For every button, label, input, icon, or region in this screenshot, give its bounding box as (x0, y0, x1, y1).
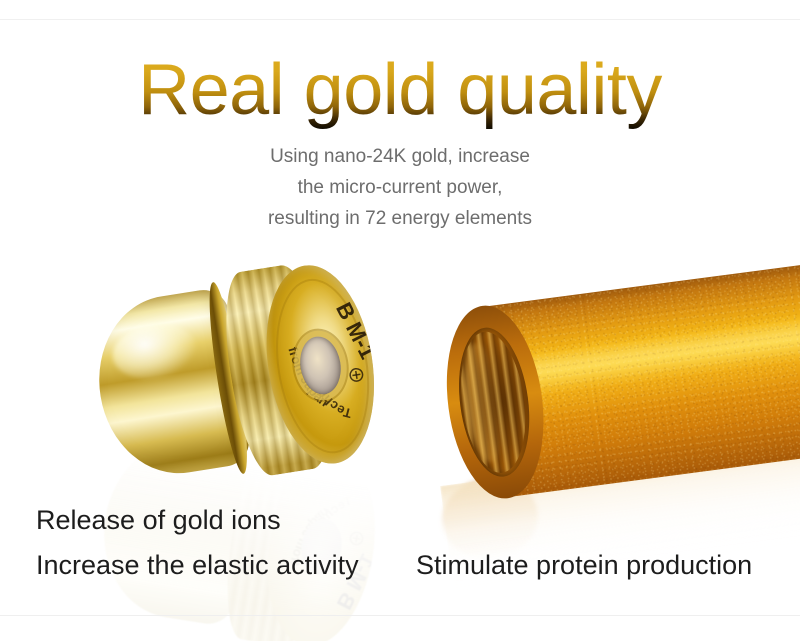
subtitle-line-1: Using nano-24K gold, increase (0, 141, 800, 172)
caption-release-gold-ions: Release of gold ions (36, 505, 281, 535)
tube-inner-bore (451, 323, 538, 481)
caption-increase-elastic-activity: Increase the elastic activity (36, 550, 359, 580)
subtitle-line-2: the micro-current power, (0, 172, 800, 203)
svg-text:B M-1: B M-1 (331, 298, 380, 363)
top-divider (0, 19, 800, 20)
subtitle-line-3: resulting in 72 energy elements (0, 203, 800, 234)
promo-banner: Real gold quality Using nano-24K gold, i… (0, 0, 800, 641)
page-title: Real gold quality (0, 51, 800, 129)
caption-stimulate-protein-production: Stimulate protein production (416, 550, 752, 580)
bottom-divider (0, 615, 800, 616)
gold-tube-image (436, 261, 800, 521)
cap-dome-highlight (108, 318, 199, 384)
subtitle-block: Using nano-24K gold, increase the micro-… (0, 141, 800, 234)
